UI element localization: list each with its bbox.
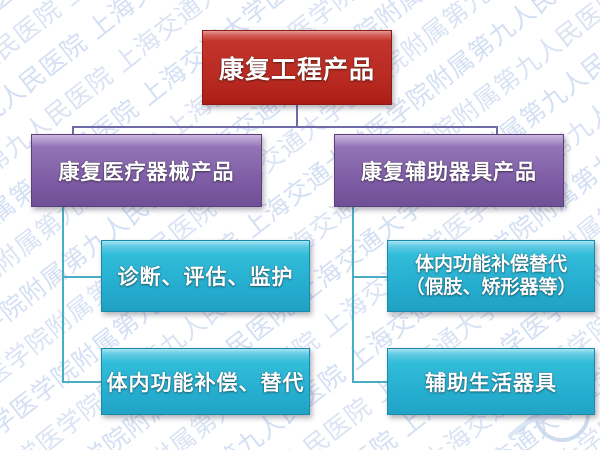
node-level3-right-2[interactable]: 辅助生活器具 (387, 348, 595, 415)
node-level3-left-2-label: 体内功能补偿、替代 (107, 367, 305, 397)
node-level2-right-label: 康复辅助器具产品 (361, 156, 537, 186)
node-level2-right[interactable]: 康复辅助器具产品 (334, 134, 564, 207)
node-level3-right-2-label: 辅助生活器具 (425, 367, 557, 397)
node-level3-left-1-label: 诊断、评估、监护 (118, 261, 294, 291)
node-level3-left-2[interactable]: 体内功能补偿、替代 (101, 348, 310, 415)
connector-left-trunk (62, 207, 64, 383)
connector-root-bar (72, 126, 498, 128)
connector-left-child1 (62, 276, 102, 278)
connector-right-child1 (352, 276, 388, 278)
node-level3-left-1[interactable]: 诊断、评估、监护 (101, 240, 310, 312)
connector-left-child2 (62, 381, 102, 383)
node-level3-right-1-label-line1: 体内功能补偿替代 (415, 253, 567, 276)
diagram-canvas: 上海交通大学医学院附属第九人民医院 上海交通大学医学院附属第九人民医院 上海交通… (0, 0, 600, 450)
node-root[interactable]: 康复工程产品 (202, 30, 392, 105)
node-level2-left[interactable]: 康复医疗器械产品 (31, 134, 262, 207)
node-root-label: 康复工程产品 (219, 50, 375, 86)
connector-root-stem (296, 105, 298, 128)
node-level2-left-label: 康复医疗器械产品 (59, 156, 235, 186)
node-level3-right-1-label-line2: （假肢、矫形器等） (405, 276, 576, 299)
connector-right-child2 (352, 381, 388, 383)
node-level3-right-1[interactable]: 体内功能补偿替代 （假肢、矫形器等） (387, 240, 595, 312)
connector-right-trunk (352, 207, 354, 383)
